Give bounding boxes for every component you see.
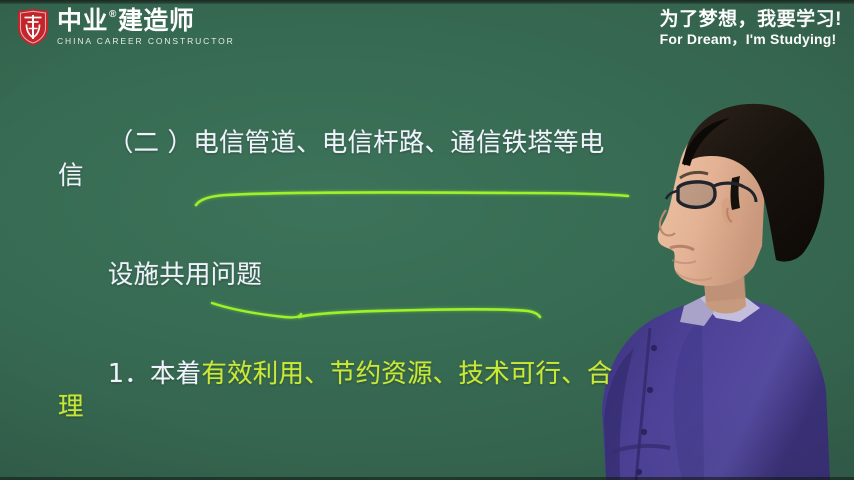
slide-line: （二 ）电信管道、电信杆路、通信铁塔等电信 bbox=[58, 94, 618, 226]
shield-logo-icon bbox=[16, 8, 50, 46]
brand-name-cn: 中业®建造师 bbox=[57, 9, 235, 34]
brand-name-cn-part1: 中业 bbox=[57, 9, 108, 34]
slogan-block: 为了梦想，我要学习! For Dream，I'm Studying! bbox=[660, 9, 842, 48]
slide-text-segment: 设施共用问题 bbox=[108, 260, 262, 290]
brand-name-en: CHINA CAREER CONSTRUCTOR bbox=[57, 37, 235, 46]
registered-mark: ® bbox=[109, 10, 117, 20]
slide-line: 1．本着有效利用、节约资源、技术可行、合理 bbox=[58, 325, 618, 457]
video-lecture-screen: （二 ）电信管道、电信杆路、通信铁塔等电信 设施共用问题 1．本着有效利用、节约… bbox=[0, 0, 854, 480]
brand-name-cn-part2: 建造师 bbox=[118, 9, 195, 34]
slide-text-segment: （二 ）电信管道、电信杆路、通信铁塔等电信 bbox=[58, 128, 604, 191]
brand-logo-group[interactable]: 中业®建造师 CHINA CAREER CONSTRUCTOR bbox=[16, 8, 235, 46]
slide-text-body: （二 ）电信管道、电信杆路、通信铁塔等电信 设施共用问题 1．本着有效利用、节约… bbox=[58, 94, 618, 480]
presenter-shirt bbox=[602, 296, 830, 480]
slogan-en: For Dream，I'm Studying! bbox=[660, 32, 842, 48]
header-bar: 中业®建造师 CHINA CAREER CONSTRUCTOR 为了梦想，我要学… bbox=[0, 0, 854, 60]
slide-text-segment: 1．本着 bbox=[108, 359, 202, 389]
brand-text: 中业®建造师 CHINA CAREER CONSTRUCTOR bbox=[57, 8, 235, 46]
slogan-cn: 为了梦想，我要学习! bbox=[660, 9, 842, 30]
slide-line: 设施共用问题 bbox=[58, 226, 618, 325]
